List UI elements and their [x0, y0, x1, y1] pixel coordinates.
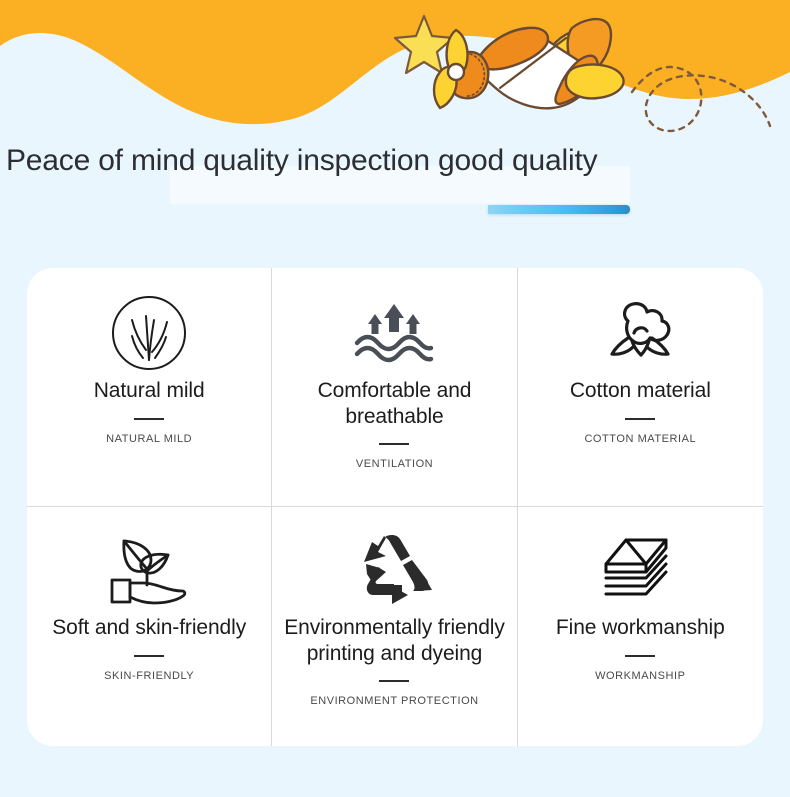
feature-caption: ENVIRONMENT PROTECTION — [310, 695, 478, 707]
grass-circle-icon — [110, 294, 188, 372]
feature-cell-natural-mild[interactable]: Natural mild NATURAL MILD — [27, 268, 272, 507]
feature-cell-cotton-material[interactable]: Cotton material COTTON MATERIAL — [518, 268, 763, 507]
feature-divider — [134, 655, 164, 657]
feature-title: Environmentally friendly printing and dy… — [284, 615, 505, 666]
feature-title: Cotton material — [570, 378, 711, 404]
feature-divider — [134, 418, 164, 420]
hand-leaf-icon — [106, 531, 192, 609]
feature-caption: COTTON MATERIAL — [584, 433, 696, 445]
hero-banner — [0, 0, 790, 240]
page-title-area: Peace of mind quality inspection good qu… — [0, 132, 790, 190]
feature-caption: WORKMANSHIP — [595, 670, 685, 682]
feature-divider — [379, 680, 409, 682]
title-accent-bar — [488, 205, 630, 214]
feature-cell-environment[interactable]: Environmentally friendly printing and dy… — [272, 507, 517, 746]
fabric-stack-icon — [600, 531, 680, 609]
feature-title: Soft and skin-friendly — [52, 615, 246, 641]
feature-caption: VENTILATION — [356, 458, 433, 470]
cotton-boll-icon — [598, 294, 682, 372]
feature-caption: SKIN-FRIENDLY — [104, 670, 194, 682]
feature-caption: NATURAL MILD — [106, 433, 192, 445]
orange-wave — [0, 0, 790, 140]
airflow-waves-icon — [351, 294, 437, 372]
feature-title: Fine workmanship — [556, 615, 725, 641]
feature-title: Natural mild — [94, 378, 205, 404]
feature-divider — [625, 655, 655, 657]
feature-cell-workmanship[interactable]: Fine workmanship WORKMANSHIP — [518, 507, 763, 746]
page-title: Peace of mind quality inspection good qu… — [6, 132, 790, 190]
feature-divider — [379, 443, 409, 445]
feature-title: Comfortable and breathable — [318, 378, 472, 429]
recycle-icon — [356, 531, 432, 609]
feature-cell-skin-friendly[interactable]: Soft and skin-friendly SKIN-FRIENDLY — [27, 507, 272, 746]
feature-divider — [625, 418, 655, 420]
features-card: Natural mild NATURAL MILD — [27, 268, 763, 746]
features-grid: Natural mild NATURAL MILD — [27, 268, 763, 746]
feature-cell-ventilation[interactable]: Comfortable and breathable VENTILATION — [272, 268, 517, 507]
